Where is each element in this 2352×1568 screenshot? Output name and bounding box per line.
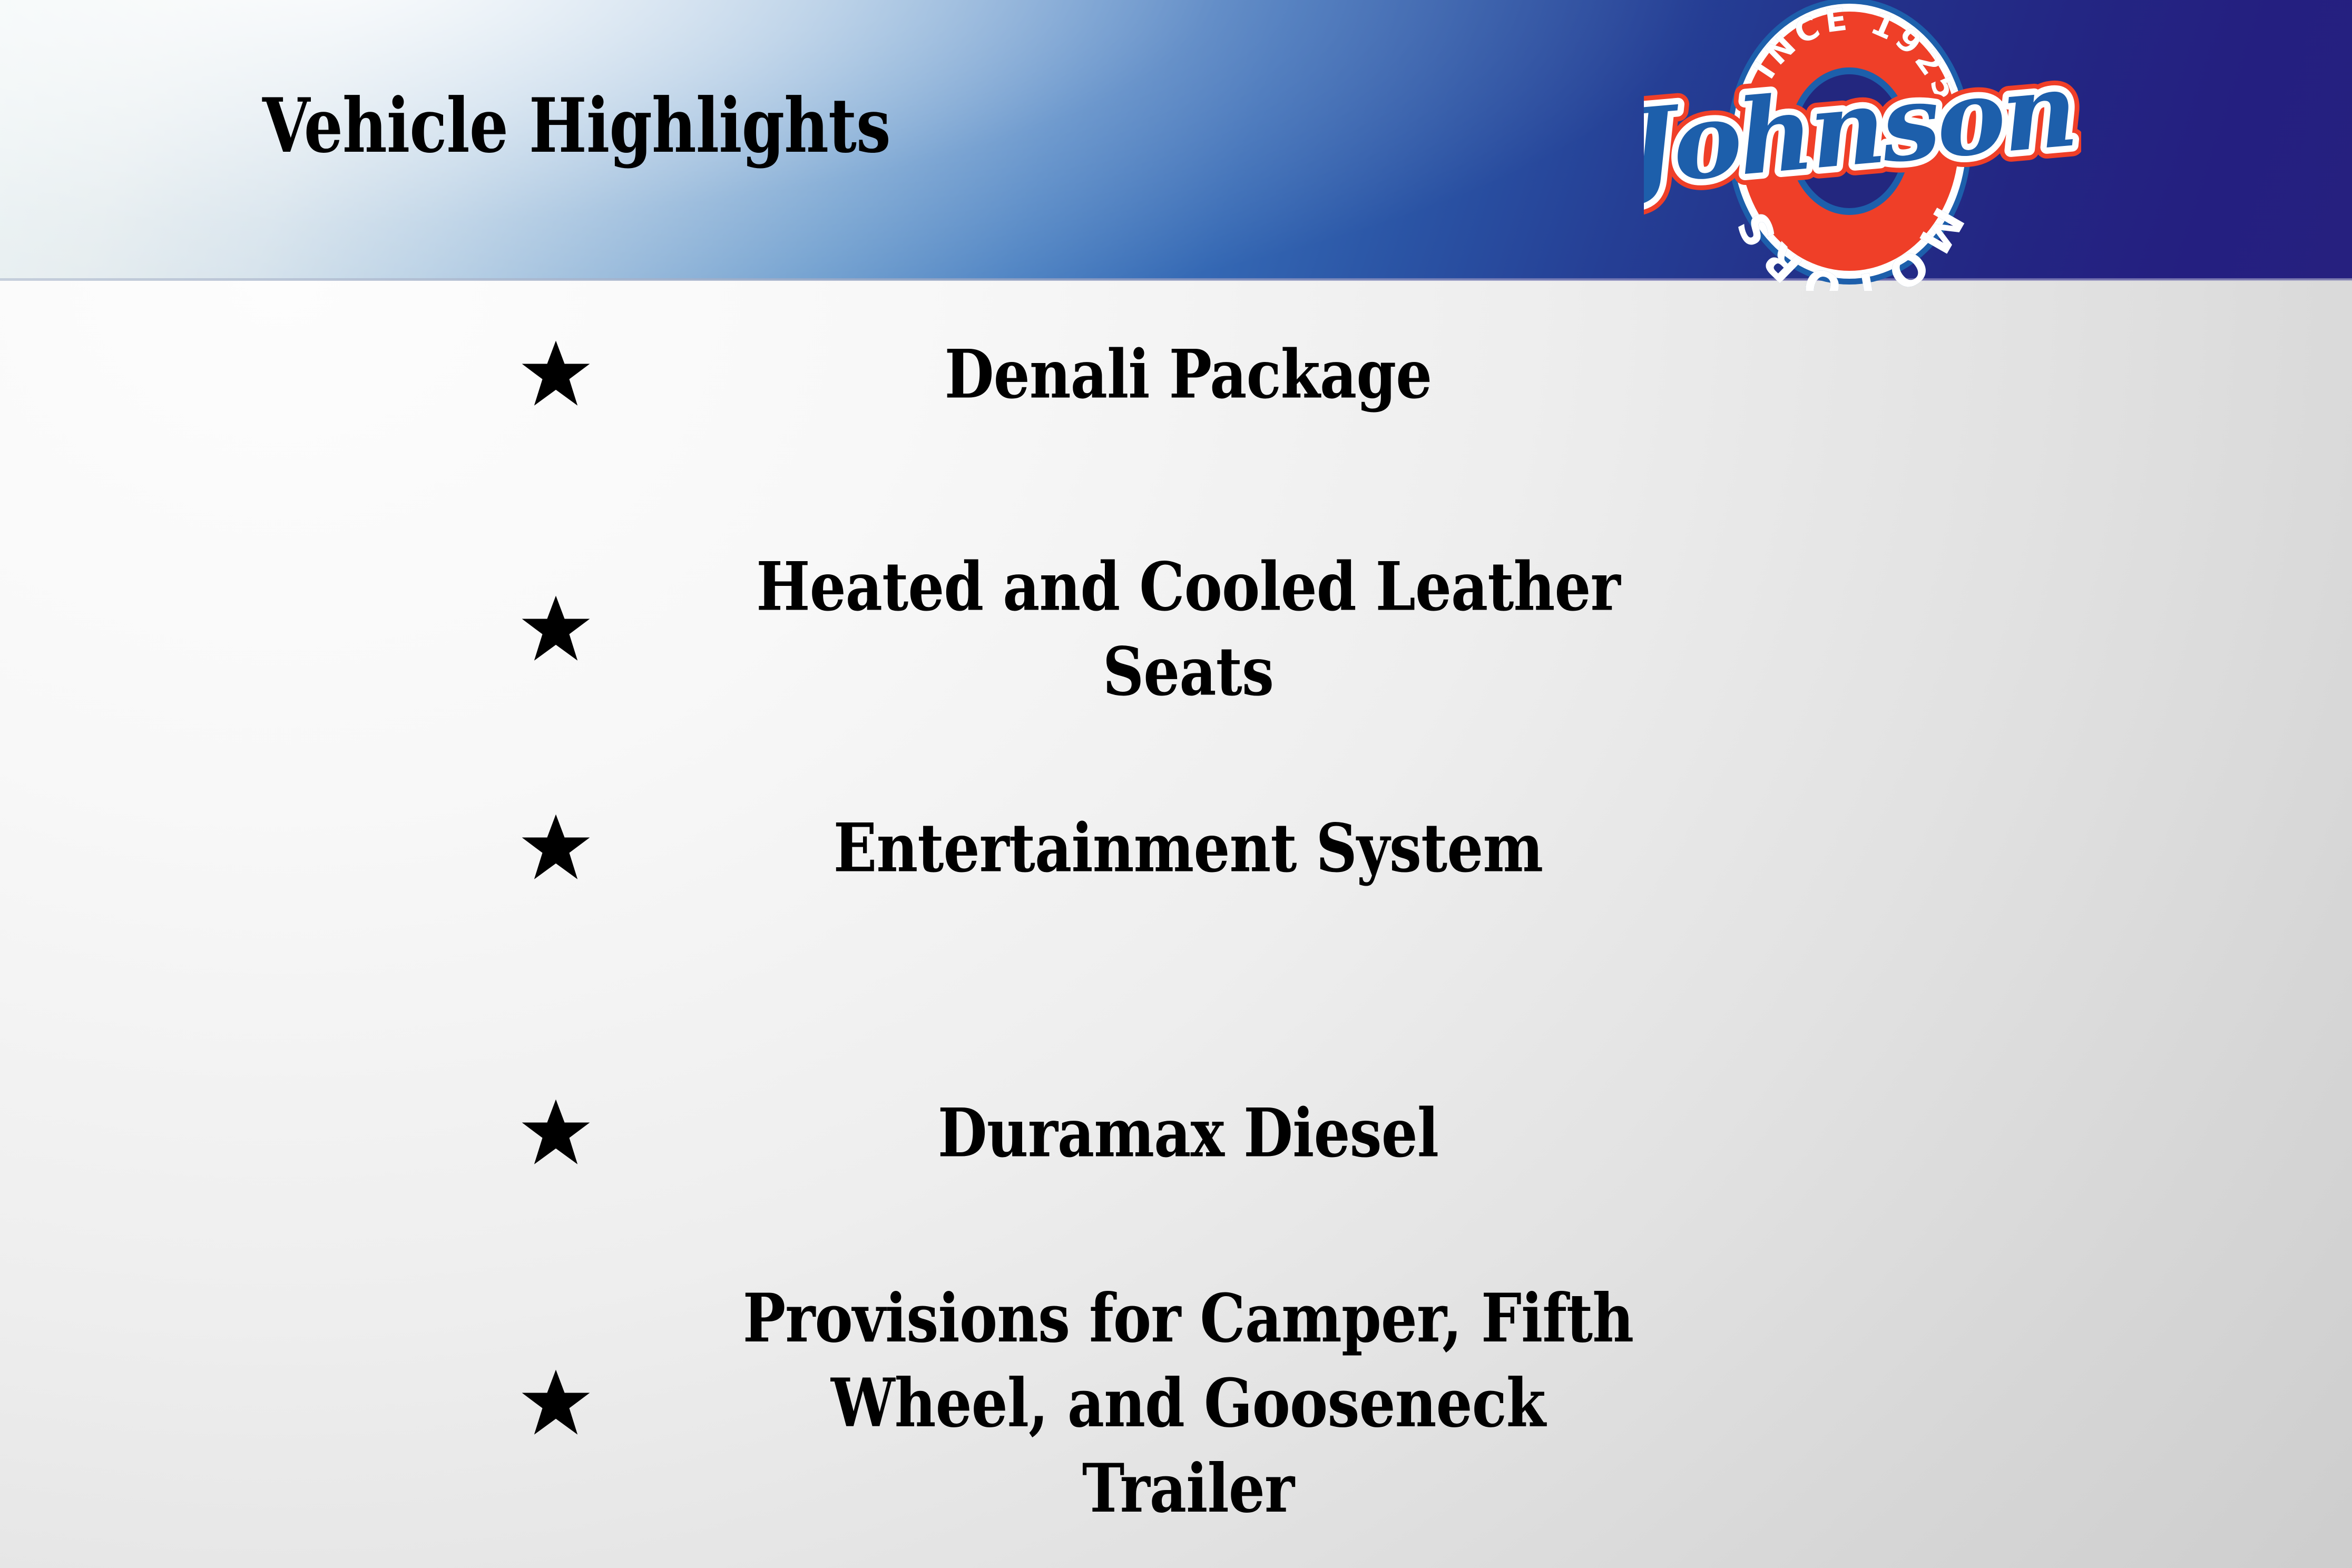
star-icon [519,1096,593,1170]
star-icon [519,338,593,411]
list-item-label: Duramax Diesel [735,1091,1641,1175]
list-item-label: Provisions for Camper, Fifth Wheel, and … [735,1276,1641,1531]
vehicle-highlights-list: Denali Package Heated and Cooled Leather… [0,280,2352,1568]
johnson-motors-logo: SINCE 1925 SINCE 1925 MOTORS MOTORS John… [1644,0,2081,291]
list-item-label: Entertainment System [735,806,1641,890]
list-item-label: Denali Package [735,332,1641,417]
star-icon [519,593,593,667]
star-icon [519,811,593,885]
svg-text:Johnson: Johnson [1644,49,2079,210]
star-icon [519,1367,593,1440]
logo-wordmark: Johnson Johnson Johnson [1644,49,2079,210]
slide-canvas: Vehicle Highlights [0,0,2352,1568]
page-title: Vehicle Highlights [262,89,890,163]
list-item-label: Heated and Cooled Leather Seats [735,545,1641,715]
